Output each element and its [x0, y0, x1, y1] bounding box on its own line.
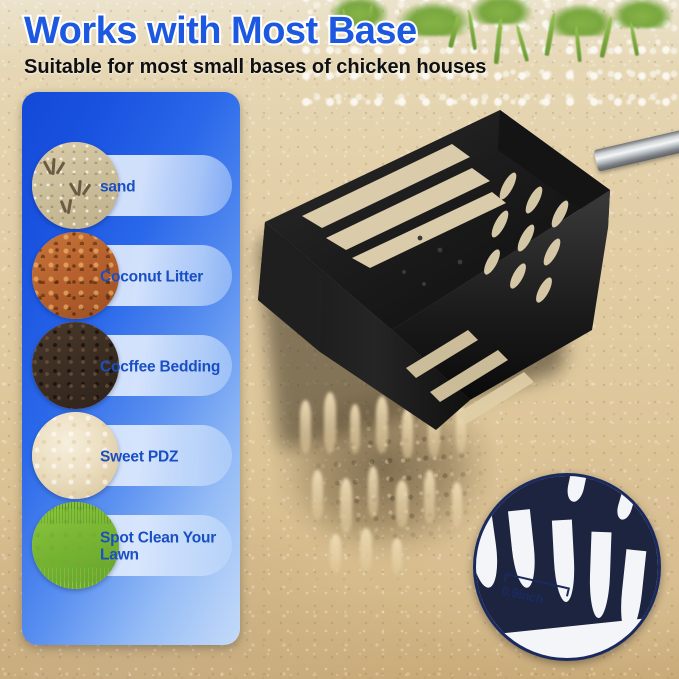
list-item[interactable]: Coconut Litter	[22, 232, 240, 321]
list-item[interactable]: sand	[22, 142, 240, 231]
page-subtitle: Suitable for most small bases of chicken…	[24, 56, 486, 79]
tine-detail-inset: 0.9inch	[473, 473, 661, 661]
list-item-label: Spot Clean Your Lawn	[100, 529, 230, 564]
product-feature-image: sand Coconut Litter Cocffee Bedding	[0, 0, 679, 679]
list-item-label: Cocffee Bedding	[100, 358, 230, 375]
list-item[interactable]: Sweet PDZ	[22, 412, 240, 501]
list-item-label: Sweet PDZ	[100, 448, 230, 465]
list-item-label: Coconut Litter	[100, 268, 230, 285]
list-item[interactable]: Cocffee Bedding	[22, 322, 240, 411]
base-type-list: sand Coconut Litter Cocffee Bedding	[22, 142, 240, 592]
list-item-label: sand	[100, 178, 230, 195]
base-type-panel: sand Coconut Litter Cocffee Bedding	[22, 92, 240, 645]
list-item[interactable]: Spot Clean Your Lawn	[22, 502, 240, 591]
page-title: Works with Most Base	[24, 10, 417, 53]
